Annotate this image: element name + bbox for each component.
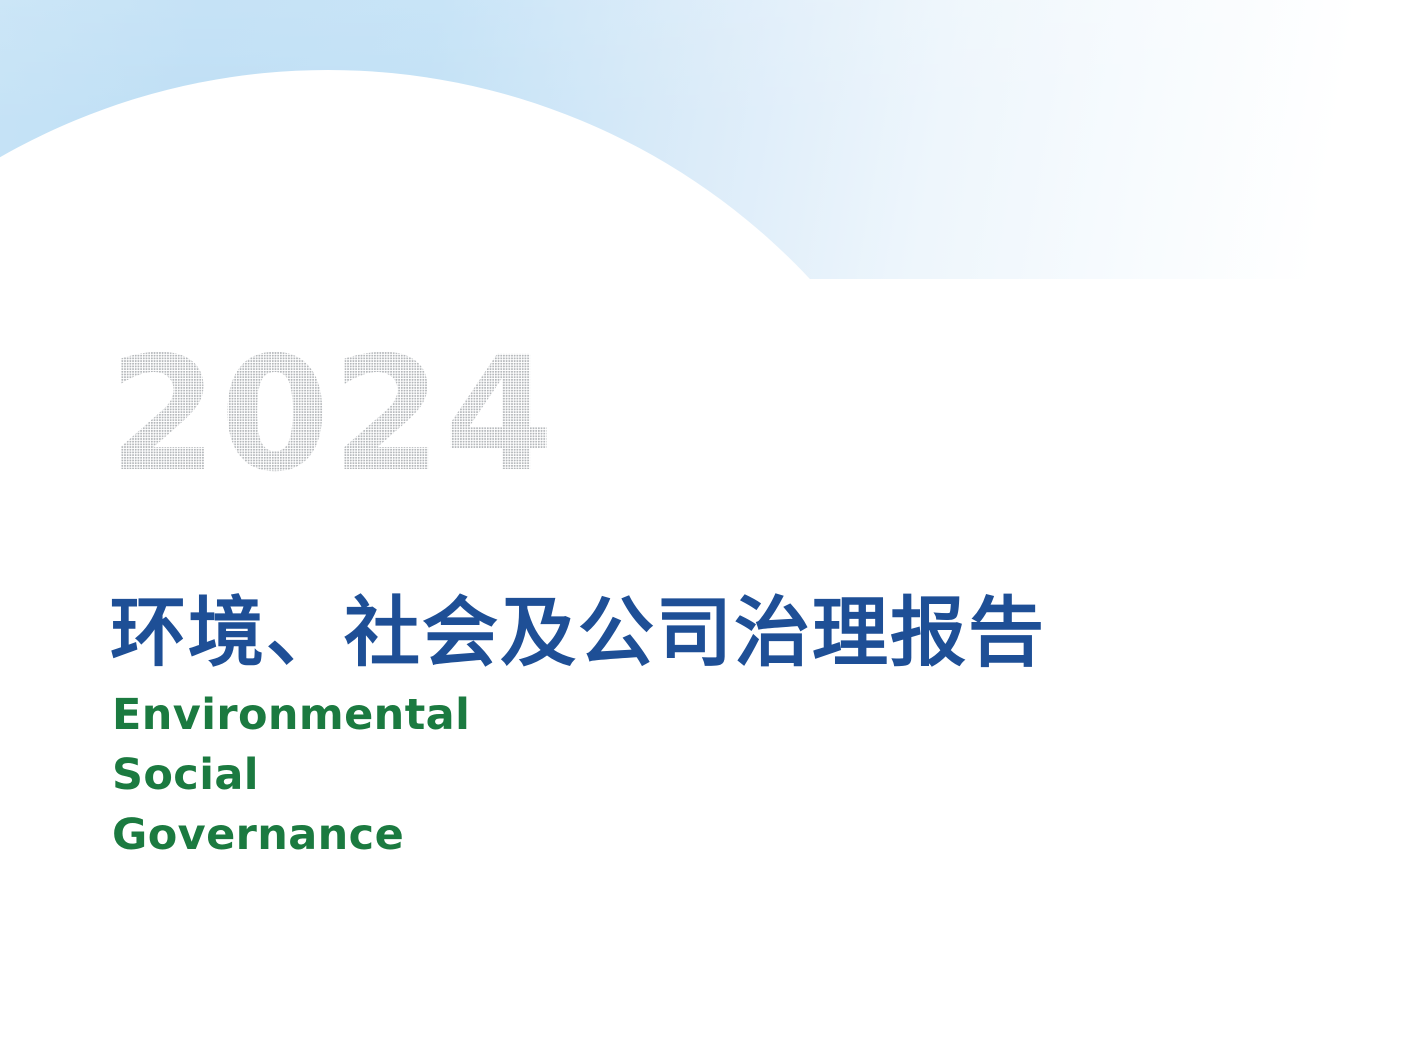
subtitle-english: Environmental Social Governance	[112, 686, 470, 865]
white-circle-arc-decoration	[0, 70, 988, 279]
year-halftone-text: 2024	[108, 336, 556, 494]
subtitle-line-social: Social	[112, 746, 470, 806]
header-gradient-band	[0, 0, 1414, 279]
report-cover-page: 2024 环境、社会及公司治理报告 Environmental Social G…	[0, 0, 1414, 1060]
page-title-chinese: 环境、社会及公司治理报告	[110, 589, 1046, 677]
cover-year: 2024	[108, 336, 556, 494]
subtitle-line-governance: Governance	[112, 806, 470, 866]
subtitle-line-environmental: Environmental	[112, 686, 470, 746]
